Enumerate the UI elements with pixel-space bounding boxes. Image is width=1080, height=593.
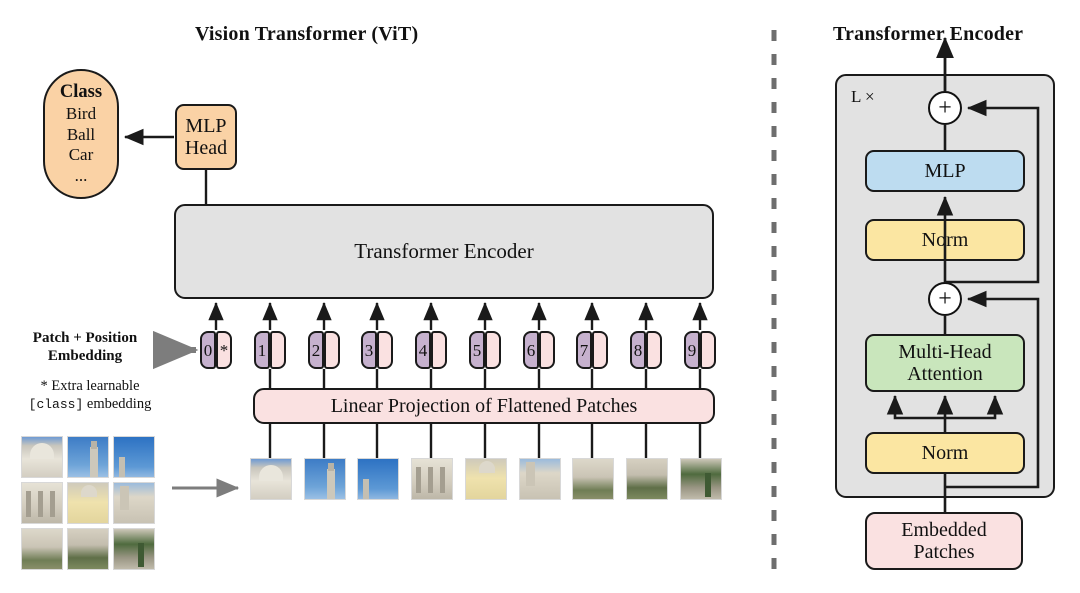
- token-3-index: 3: [361, 331, 377, 369]
- source-patch-5: [113, 482, 155, 524]
- token-8[interactable]: 8: [630, 331, 662, 369]
- token-6[interactable]: 6: [523, 331, 555, 369]
- residual-add-bottom: +: [928, 282, 962, 316]
- token-8-embedding: [646, 331, 662, 369]
- flat-patch-0: [250, 458, 292, 500]
- flat-patch-2: [357, 458, 399, 500]
- class-item-ellipsis: ...: [60, 166, 102, 187]
- token-9-embedding: [700, 331, 716, 369]
- extra-learnable-footnote: * Extra learnable [class] embedding: [10, 377, 170, 413]
- token-to-encoder-arrows: [216, 303, 700, 330]
- token-7-embedding: [592, 331, 608, 369]
- token-8-index: 8: [630, 331, 646, 369]
- source-patch-0: [21, 436, 63, 478]
- token-1-embedding: [270, 331, 286, 369]
- norm-top-label: Norm: [922, 229, 969, 251]
- token-5[interactable]: 5: [469, 331, 501, 369]
- source-patch-2: [113, 436, 155, 478]
- flat-patch-3: [411, 458, 453, 500]
- footnote-line1: * Extra learnable: [40, 378, 139, 394]
- attention-line1: Multi-Head: [898, 341, 991, 363]
- mlp-head-label: MLP Head: [185, 115, 227, 160]
- embedded-line1: Embedded: [901, 519, 987, 541]
- token-4[interactable]: 4: [415, 331, 447, 369]
- token-1-index: 1: [254, 331, 270, 369]
- source-patch-1: [67, 436, 109, 478]
- mlp-block: MLP: [865, 150, 1025, 192]
- patch-position-embedding-label: Patch + Position Embedding: [10, 330, 160, 365]
- mlp-head-block: MLP Head: [175, 104, 237, 170]
- mlp-head-line1: MLP: [185, 115, 227, 137]
- diagram-canvas: Vision Transformer (ViT) Transformer Enc…: [0, 0, 1080, 593]
- token-0-marker: *: [216, 331, 232, 369]
- flat-patch-6: [572, 458, 614, 500]
- patch-position-line2: Embedding: [48, 348, 122, 364]
- footnote-line2-tail: embedding: [83, 396, 151, 412]
- plus-symbol-bottom: +: [938, 287, 952, 311]
- flat-patch-5: [519, 458, 561, 500]
- token-2[interactable]: 2: [308, 331, 340, 369]
- token-6-embedding: [539, 331, 555, 369]
- class-heading: Class: [60, 81, 102, 104]
- token-3-embedding: [377, 331, 393, 369]
- residual-add-top: +: [928, 91, 962, 125]
- left-panel-title: Vision Transformer (ViT): [195, 24, 418, 45]
- token-6-index: 6: [523, 331, 539, 369]
- embedded-patches-label: Embedded Patches: [901, 519, 987, 564]
- norm-block-top: Norm: [865, 219, 1025, 261]
- flat-patch-4: [465, 458, 507, 500]
- mlp-block-label: MLP: [924, 160, 965, 182]
- token-4-embedding: [431, 331, 447, 369]
- attention-label: Multi-Head Attention: [898, 341, 991, 386]
- source-patch-4: [67, 482, 109, 524]
- attention-line2: Attention: [898, 363, 991, 385]
- plus-symbol-top: +: [938, 96, 952, 120]
- token-3[interactable]: 3: [361, 331, 393, 369]
- class-item-2: Car: [60, 145, 102, 166]
- footnote-class-token: [class]: [29, 397, 84, 412]
- norm-block-bottom: Norm: [865, 432, 1025, 474]
- mlp-head-line2: Head: [185, 137, 227, 159]
- token-5-index: 5: [469, 331, 485, 369]
- token-4-index: 4: [415, 331, 431, 369]
- token-7-index: 7: [576, 331, 592, 369]
- patch-to-projection-stems: [270, 424, 700, 458]
- repeat-count-label: L ×: [851, 88, 875, 106]
- token-2-index: 2: [308, 331, 324, 369]
- embedded-patches-block: Embedded Patches: [865, 512, 1023, 570]
- source-patch-3: [21, 482, 63, 524]
- flat-patch-8: [680, 458, 722, 500]
- source-patch-6: [21, 528, 63, 570]
- token-1[interactable]: 1: [254, 331, 286, 369]
- linear-projection-label: Linear Projection of Flattened Patches: [331, 395, 638, 417]
- class-item-1: Ball: [60, 125, 102, 146]
- right-panel-title: Transformer Encoder: [833, 24, 1023, 45]
- token-5-embedding: [485, 331, 501, 369]
- flat-patch-7: [626, 458, 668, 500]
- source-patch-7: [67, 528, 109, 570]
- flat-patch-1: [304, 458, 346, 500]
- transformer-encoder-block: Transformer Encoder: [174, 204, 714, 299]
- token-9[interactable]: 9: [684, 331, 716, 369]
- transformer-encoder-label: Transformer Encoder: [354, 240, 533, 264]
- token-7[interactable]: 7: [576, 331, 608, 369]
- token-2-embedding: [324, 331, 340, 369]
- token-0-index: 0: [200, 331, 216, 369]
- projection-to-token-stems: [270, 369, 700, 388]
- multi-head-attention-block: Multi-Head Attention: [865, 334, 1025, 392]
- linear-projection-block: Linear Projection of Flattened Patches: [253, 388, 715, 424]
- class-item-0: Bird: [60, 104, 102, 125]
- class-output-box: Class Bird Ball Car ...: [43, 69, 119, 199]
- token-9-index: 9: [684, 331, 700, 369]
- source-patch-8: [113, 528, 155, 570]
- embedded-line2: Patches: [901, 541, 987, 563]
- class-list: Class Bird Ball Car ...: [60, 81, 102, 187]
- token-0[interactable]: 0 *: [200, 331, 232, 369]
- norm-bottom-label: Norm: [922, 442, 969, 464]
- patch-position-line1: Patch + Position: [33, 330, 137, 346]
